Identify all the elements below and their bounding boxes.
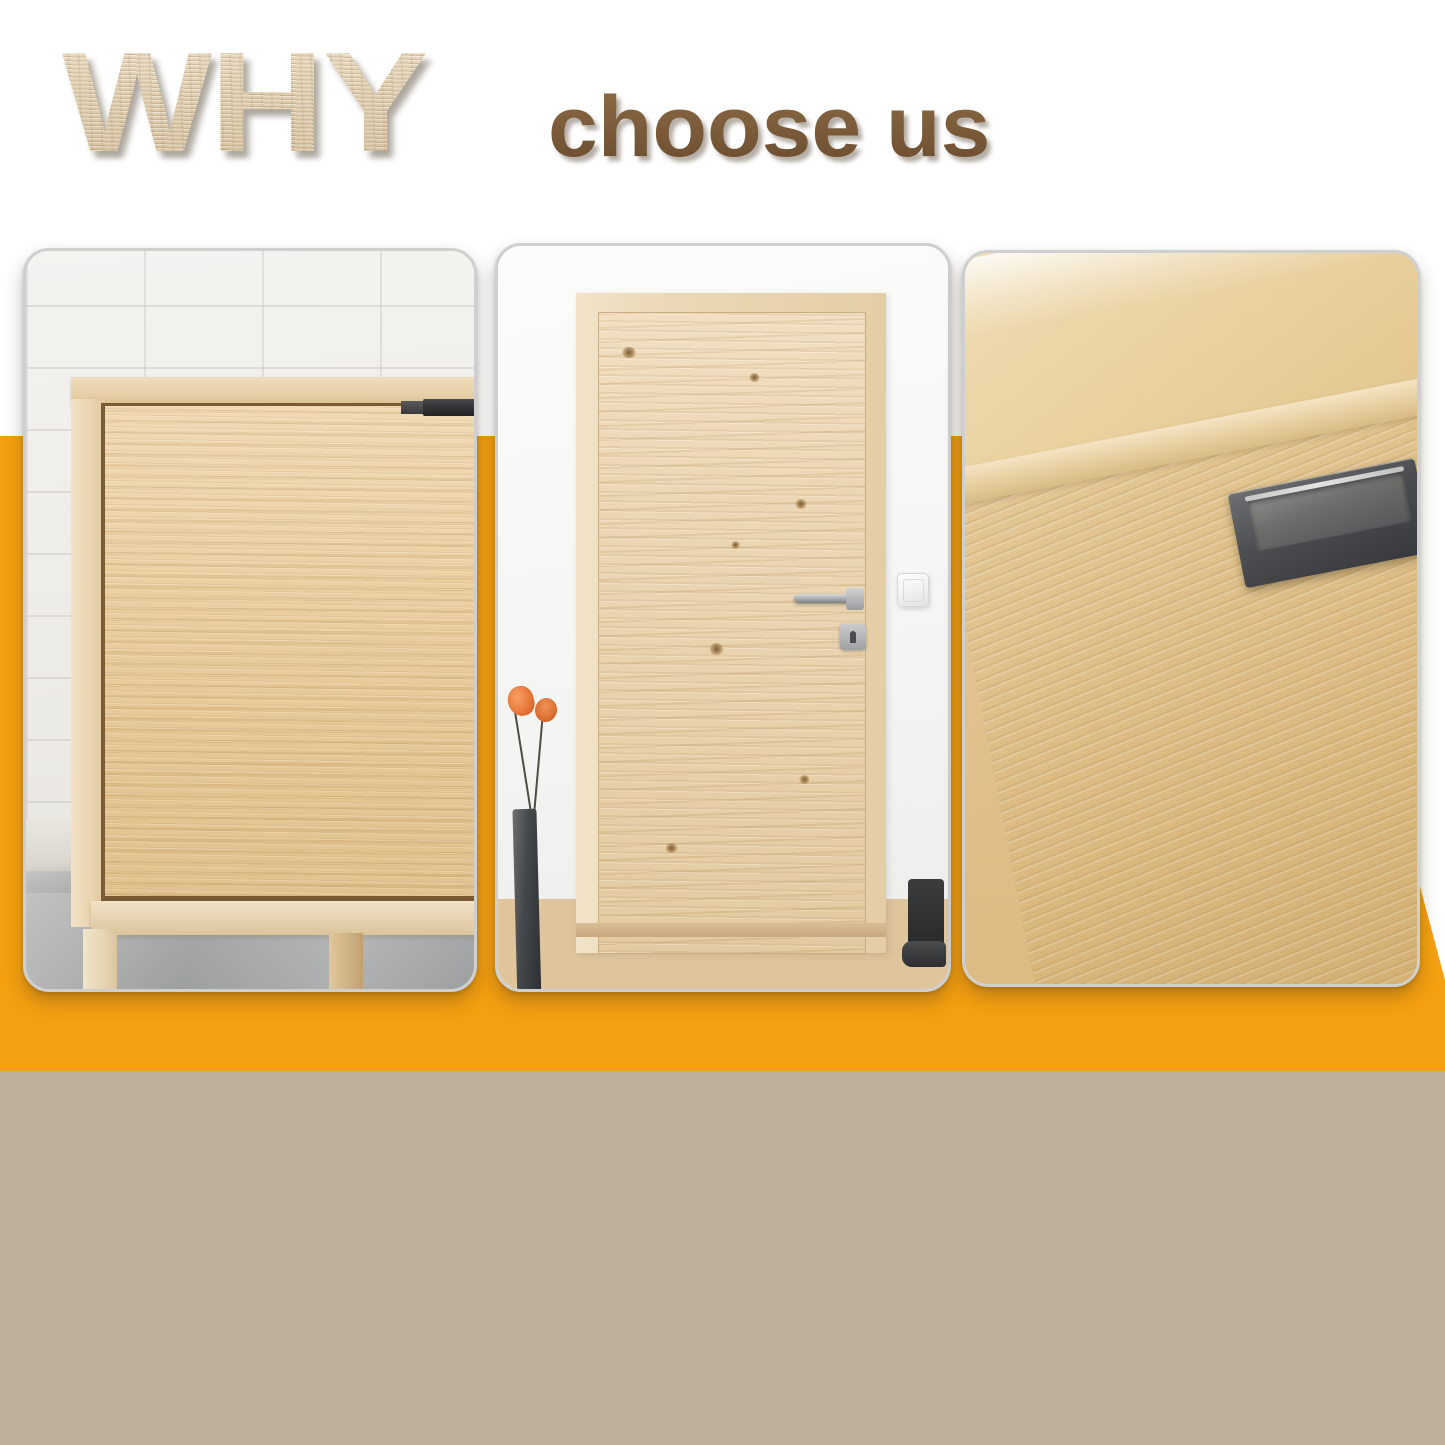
- wood-knot: [795, 499, 807, 509]
- header: WHY choose us: [0, 0, 1445, 230]
- light-switch: [897, 573, 929, 607]
- page-title-accent: WHY: [62, 32, 426, 174]
- wood-knot: [709, 643, 724, 655]
- wood-knot: [749, 373, 760, 382]
- cabinet-left-post: [71, 399, 105, 927]
- drawer-front-panel: [105, 406, 474, 896]
- cabinet-leg-middle: [329, 933, 363, 989]
- features-footer: HIGH QUALITY MATERIAL NATURE MAPLE WOOD …: [0, 1071, 1445, 1445]
- dark-object-right-low: [902, 941, 946, 967]
- photo-card-cabinet[interactable]: [23, 248, 477, 992]
- wood-knot: [731, 541, 740, 549]
- wood-knot: [621, 347, 637, 358]
- wood-knot: [799, 775, 810, 784]
- wood-knot: [665, 843, 678, 853]
- interior-door-photo: [498, 246, 948, 989]
- drawer-handle-dark: [423, 399, 474, 416]
- keyhole-icon: [850, 631, 856, 643]
- cabinet-drawer-photo: [26, 251, 474, 989]
- photo-card-door[interactable]: [495, 243, 951, 992]
- oak-door-leaf: [598, 312, 866, 954]
- cabinet-leg-left: [83, 929, 117, 989]
- cabinet-body: [71, 377, 474, 989]
- cabinet-bottom-rail: [91, 901, 474, 935]
- page-title-rest: choose us: [548, 84, 990, 170]
- infographic-root: WHY choose us: [0, 0, 1445, 1445]
- photo-card-drawer-edge[interactable]: [962, 250, 1420, 987]
- door-handle-rosette: [846, 588, 864, 610]
- drawer-edge-closeup-photo: [965, 253, 1417, 984]
- door-threshold: [576, 923, 886, 937]
